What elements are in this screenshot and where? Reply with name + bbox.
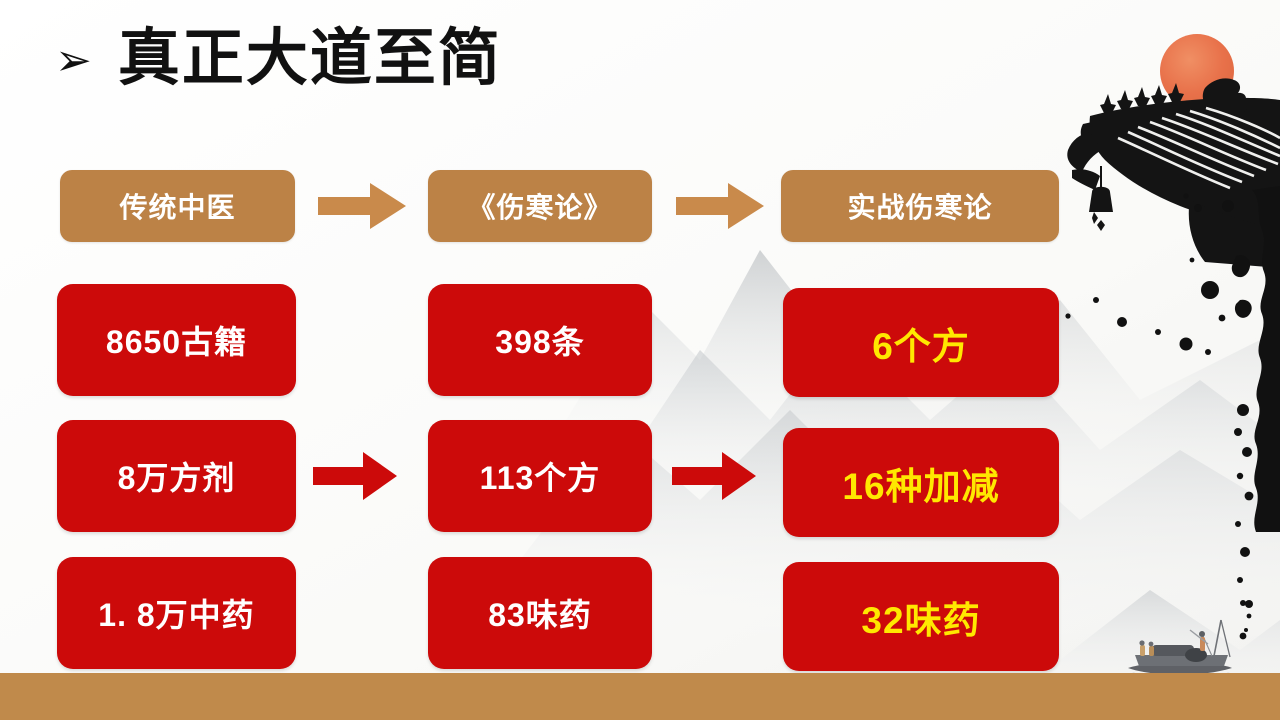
page-title: 真正大道至简: [118, 26, 502, 91]
data-box-r2c1[interactable]: 8万方剂: [57, 420, 296, 532]
data-box-r2c2[interactable]: 113个方: [428, 420, 652, 532]
header-box-2[interactable]: 《伤寒论》: [428, 170, 652, 242]
data-box-r3c1[interactable]: 1. 8万中药: [57, 557, 296, 669]
row-arrow-1: [313, 452, 397, 500]
data-box-r1c2-label: 398条: [495, 317, 584, 363]
hanging-bell-illustration: [1089, 166, 1113, 231]
data-box-r3c3[interactable]: 32味药: [783, 562, 1059, 671]
bullet-arrow-icon: ➢: [55, 39, 92, 83]
header-box-1-label: 传统中医: [119, 186, 235, 226]
header-arrow-1: [318, 183, 406, 229]
header-arrow-2: [676, 183, 764, 229]
data-box-r3c2-label: 83味药: [488, 590, 592, 636]
sun-illustration: [1160, 34, 1234, 108]
header-box-2-label: 《伤寒论》: [467, 186, 612, 226]
data-box-r1c1-label: 8650古籍: [106, 317, 247, 363]
data-box-r1c3-label: 6个方: [872, 316, 970, 370]
header-box-3-label: 实战伤寒论: [847, 186, 992, 226]
ink-splatter-illustration: [1046, 186, 1280, 639]
slide-canvas: ➢ 真正大道至简 传统中医 《伤寒论》 实战伤寒论 8650古籍: [0, 0, 1280, 720]
bottom-accent-bar: [0, 673, 1280, 720]
data-box-r1c2[interactable]: 398条: [428, 284, 652, 396]
header-box-3[interactable]: 实战伤寒论: [781, 170, 1059, 242]
data-box-r2c3-label: 16种加减: [842, 456, 999, 510]
data-box-r3c1-label: 1. 8万中药: [98, 590, 254, 636]
temple-roof-illustration: [1067, 78, 1280, 268]
data-box-r1c1[interactable]: 8650古籍: [57, 284, 296, 396]
data-box-r3c3-label: 32味药: [861, 590, 980, 644]
row-arrow-2: [672, 452, 756, 500]
data-box-r1c3[interactable]: 6个方: [783, 288, 1059, 397]
header-box-1[interactable]: 传统中医: [60, 170, 295, 242]
data-box-r2c1-label: 8万方剂: [118, 453, 236, 499]
data-box-r2c2-label: 113个方: [480, 453, 601, 499]
slide-title-row: ➢ 真正大道至简: [55, 26, 502, 91]
data-box-r2c3[interactable]: 16种加减: [783, 428, 1059, 537]
data-box-r3c2[interactable]: 83味药: [428, 557, 652, 669]
